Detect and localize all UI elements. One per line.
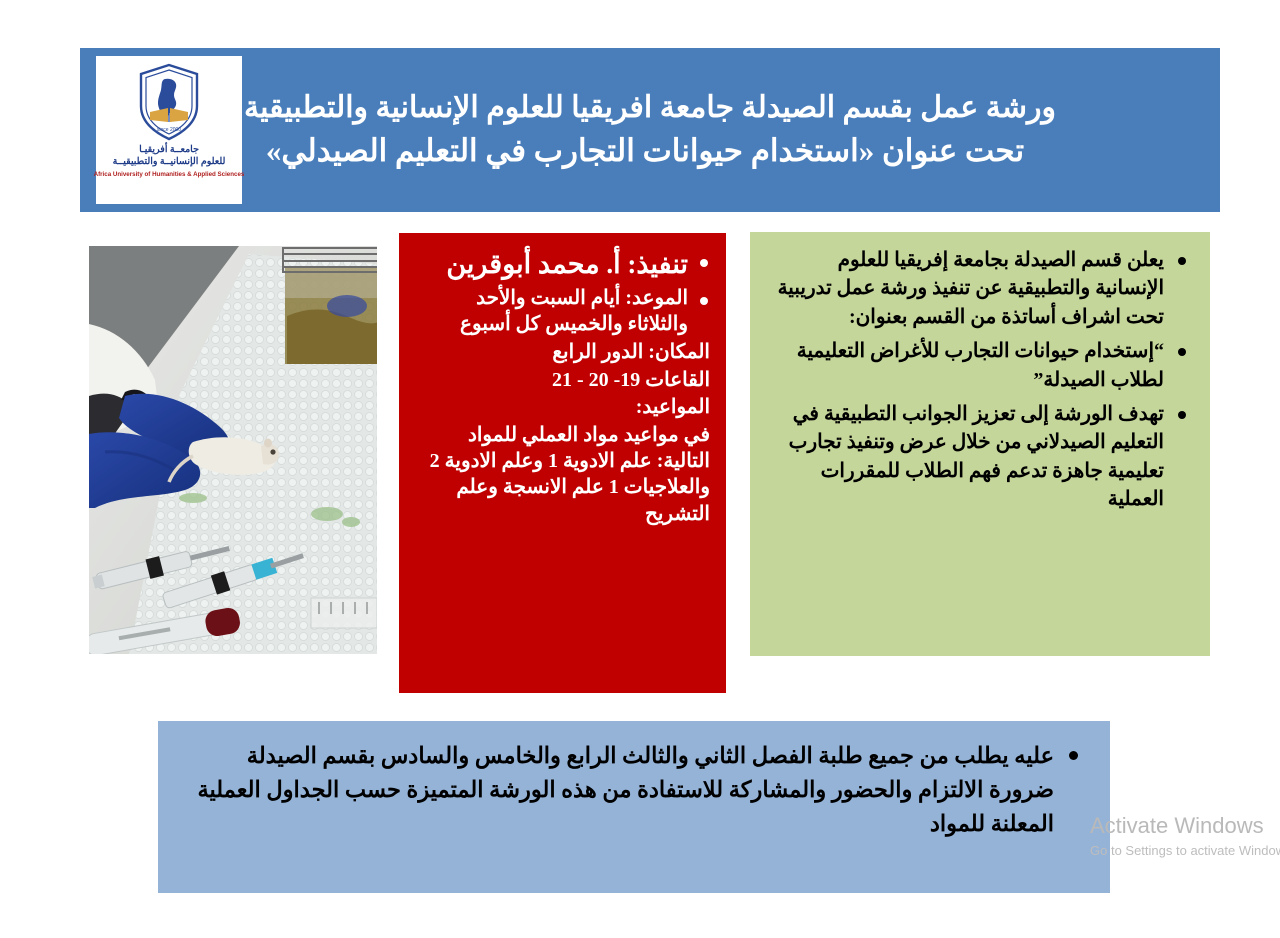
list-item: في مواعيد مواد العملي للمواد التالية: عل… — [413, 422, 710, 528]
list-item: المواعيد: — [413, 394, 710, 420]
list-item: “إستخدام حيوانات التجارب للأغراض التعليم… — [766, 337, 1192, 394]
list-item: المكان: الدور الرابع — [413, 339, 710, 365]
watermark-title: Activate Windows — [1090, 812, 1280, 840]
header-title-block: ورشة عمل بقسم الصيدلة جامعة افريقيا للعل… — [80, 86, 1220, 174]
logo-arabic-line-2: للعلوم الإنسانيــة والتطبيقيــة — [113, 157, 226, 169]
list-item: الموعد: أيام السبت والأحد والثلاثاء والخ… — [413, 285, 710, 338]
windows-activation-watermark: Activate Windows Go to Settings to activ… — [1090, 812, 1280, 860]
list-item: يعلن قسم الصيدلة بجامعة إفريقيا للعلوم ا… — [766, 246, 1192, 331]
shield-logo-icon: since 2000 — [134, 62, 204, 142]
logo-arabic-line-1: جامعــة أفريقيـا — [139, 145, 199, 157]
header-banner: ورشة عمل بقسم الصيدلة جامعة افريقيا للعل… — [80, 48, 1220, 212]
watermark-subtitle: Go to Settings to activate Windows. — [1090, 842, 1280, 860]
announcement-list: يعلن قسم الصيدلة بجامعة إفريقيا للعلوم ا… — [766, 246, 1192, 514]
lab-photo-illustration — [89, 246, 377, 654]
header-title-line-1: ورشة عمل بقسم الصيدلة جامعة افريقيا للعل… — [88, 86, 1202, 130]
logo-since-text: since 2000 — [157, 127, 181, 133]
list-item: عليه يطلب من جميع طلبة الفصل الثاني والث… — [180, 739, 1088, 840]
logo-english-name: Africa University of Humanities & Applie… — [94, 171, 245, 178]
laboratory-photo — [89, 246, 377, 654]
list-item: تهدف الورشة إلى تعزيز الجوانب التطبيقية … — [766, 400, 1192, 514]
university-logo: since 2000 جامعــة أفريقيـا للعلوم الإنس… — [96, 56, 242, 204]
header-title-line-2: تحت عنوان «استخدام حيوانات التجارب في ال… — [88, 129, 1202, 174]
details-list: تنفيذ: أ. محمد أبوقرين الموعد: أيام السب… — [413, 247, 710, 527]
list-item: تنفيذ: أ. محمد أبوقرين — [413, 247, 710, 283]
poster-slide: ورشة عمل بقسم الصيدلة جامعة افريقيا للعل… — [0, 0, 1280, 938]
announcement-green-box: يعلن قسم الصيدلة بجامعة إفريقيا للعلوم ا… — [750, 232, 1210, 656]
details-red-box: تنفيذ: أ. محمد أبوقرين الموعد: أيام السب… — [399, 233, 726, 693]
list-item: القاعات 19- 20 - 21 — [413, 367, 710, 393]
requirement-blue-box: عليه يطلب من جميع طلبة الفصل الثاني والث… — [158, 721, 1110, 893]
